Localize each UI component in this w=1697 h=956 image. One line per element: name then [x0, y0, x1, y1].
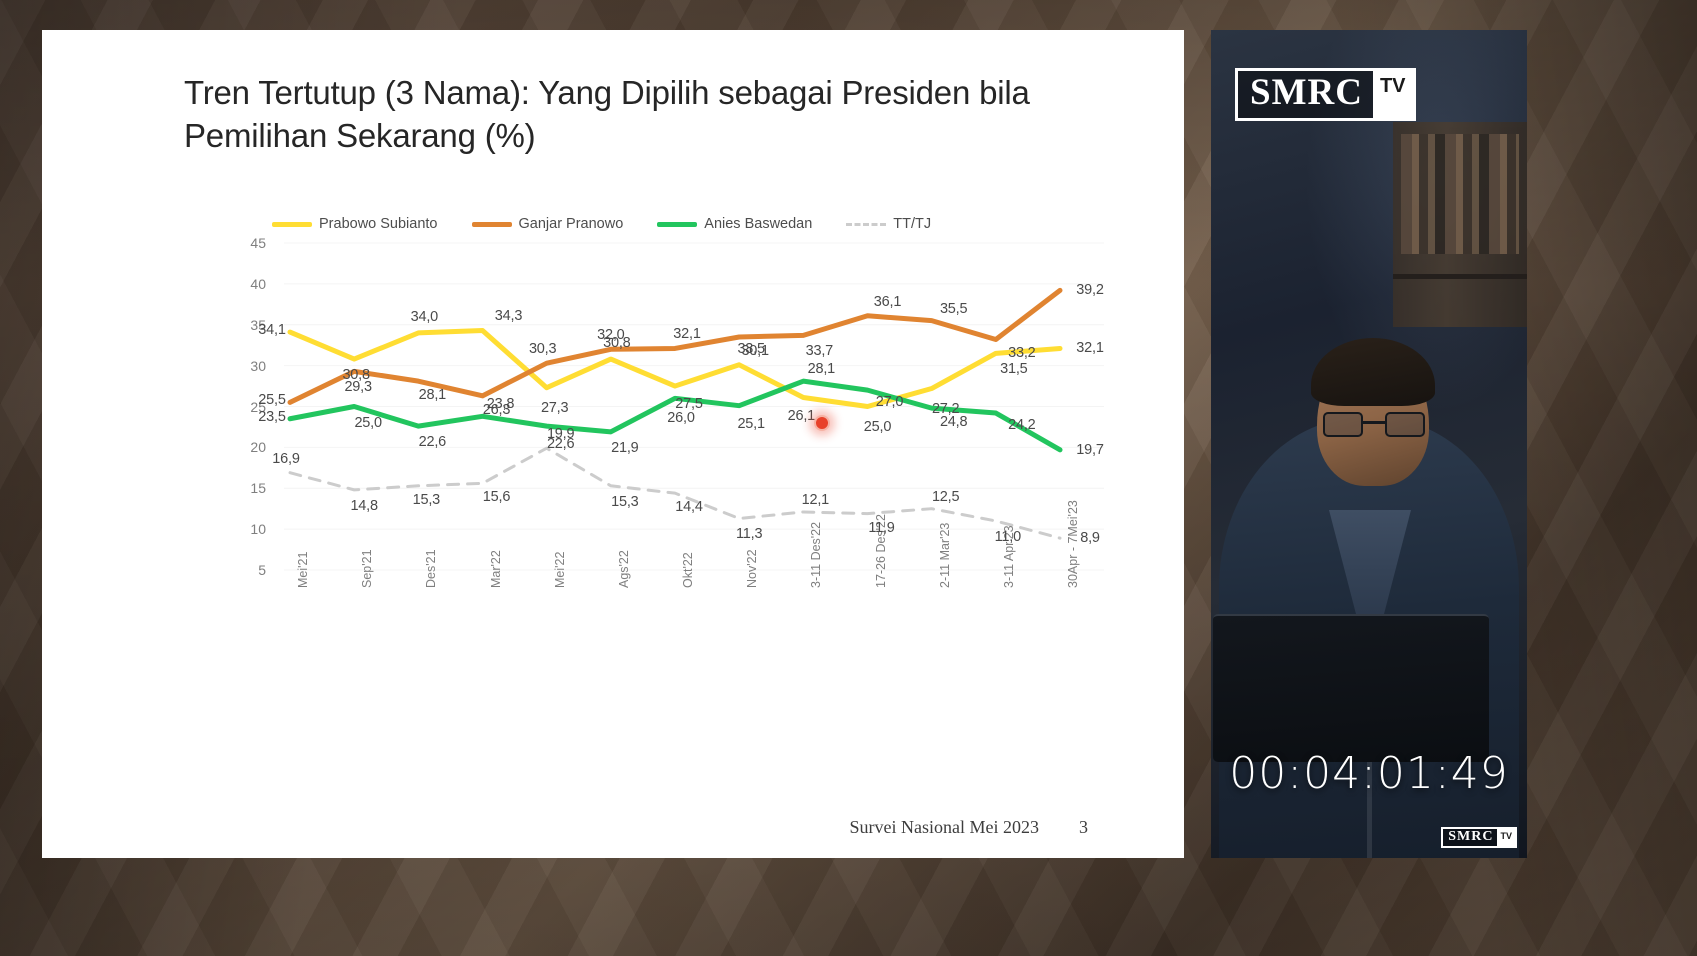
- chart-plot-area: 45403530252015105Mei'21Sep'21Des'21Mar'2…: [238, 235, 1108, 580]
- smrc-tv-logo: SMRC TV: [1235, 68, 1416, 121]
- mouse-cursor-pointer: [814, 415, 830, 431]
- data-label: 24,8: [940, 414, 967, 430]
- data-label: 33,2: [1008, 345, 1035, 361]
- data-label: 26,0: [667, 410, 694, 426]
- data-label: 19,9: [547, 426, 574, 442]
- laptop-device: [1213, 614, 1489, 762]
- legend-label: Anies Baswedan: [704, 216, 812, 232]
- x-axis-tick: Sep'21: [360, 549, 374, 588]
- presentation-slide: Tren Tertutup (3 Nama): Yang Dipilih seb…: [42, 30, 1184, 858]
- footer-source: Survei Nasional Mei 2023: [850, 817, 1039, 838]
- glasses-bridge: [1363, 421, 1385, 424]
- bookshelf-background: [1393, 122, 1527, 327]
- page-title: Tren Tertutup (3 Nama): Yang Dipilih seb…: [184, 72, 1104, 158]
- legend-swatch-icon: [272, 222, 312, 227]
- x-axis-tick: Okt'22: [681, 552, 695, 588]
- data-label: 39,2: [1076, 282, 1103, 298]
- legend-swatch-icon: [472, 222, 512, 227]
- legend-item-anies-baswedan[interactable]: Anies Baswedan: [657, 216, 812, 232]
- data-label: 34,3: [495, 308, 522, 324]
- data-label: 32,0: [597, 327, 624, 343]
- data-label: 23,8: [487, 396, 514, 412]
- data-label: 16,9: [272, 451, 299, 467]
- data-label: 36,1: [874, 294, 901, 310]
- legend-item-prabowo-subianto[interactable]: Prabowo Subianto: [272, 216, 438, 232]
- data-label: 21,9: [611, 440, 638, 456]
- y-axis-tick: 10: [232, 521, 266, 537]
- data-label: 25,0: [354, 415, 381, 431]
- data-label: 23,5: [258, 409, 285, 425]
- y-axis-tick: 15: [232, 480, 266, 496]
- page-number: 3: [1079, 817, 1088, 838]
- legend-swatch-icon: [846, 223, 886, 226]
- glasses-left-lens: [1323, 412, 1363, 437]
- legend-item-tt-tj[interactable]: TT/TJ: [846, 216, 931, 232]
- video-timecode: 00:04:01:49: [1211, 748, 1527, 799]
- data-label: 22,6: [419, 434, 446, 450]
- data-label: 15,3: [413, 492, 440, 508]
- y-axis-tick: 5: [232, 562, 266, 578]
- chart-lines: [238, 235, 1108, 580]
- x-axis-tick: 2-11 Mar'23: [938, 523, 952, 588]
- legend-item-ganjar-pranowo[interactable]: Ganjar Pranowo: [472, 216, 624, 232]
- data-label: 12,1: [802, 492, 829, 508]
- data-label: 25,5: [258, 392, 285, 408]
- x-axis-tick: Ags'22: [617, 550, 631, 588]
- data-label: 14,8: [350, 498, 377, 514]
- data-label: 24,2: [1008, 417, 1035, 433]
- data-label: 11,0: [995, 529, 1021, 545]
- smrc-watermark-tv-text: TV: [1497, 829, 1515, 846]
- x-axis-tick: Mei'21: [296, 552, 310, 588]
- smrc-logo-text: SMRC: [1238, 71, 1373, 118]
- legend-label: TT/TJ: [893, 216, 931, 232]
- data-label: 28,1: [808, 361, 835, 377]
- legend-label: Prabowo Subianto: [319, 216, 438, 232]
- y-axis-tick: 40: [232, 276, 266, 292]
- data-label: 34,0: [411, 309, 438, 325]
- slide-footer: Survei Nasional Mei 2023 3: [850, 817, 1088, 838]
- x-axis-tick: Mei'22: [553, 552, 567, 588]
- data-label: 35,5: [940, 301, 967, 317]
- data-label: 25,1: [737, 416, 764, 432]
- data-label: 15,3: [611, 494, 638, 510]
- data-label: 28,1: [419, 387, 446, 403]
- data-label: 27,0: [876, 394, 903, 410]
- data-label: 15,6: [483, 489, 510, 505]
- data-label: 14,4: [675, 499, 702, 515]
- legend-swatch-icon: [657, 222, 697, 227]
- y-axis-tick: 45: [232, 235, 266, 251]
- data-label: 19,7: [1076, 442, 1103, 458]
- video-panel[interactable]: SMRC TV 00:04:01:49 SMRC TV: [1211, 30, 1527, 858]
- eyeglasses-icon: [1323, 412, 1425, 438]
- data-label: 8,9: [1080, 530, 1100, 546]
- data-label: 33,5: [737, 341, 764, 357]
- data-label: 27,3: [541, 400, 568, 416]
- data-label: 31,5: [1000, 361, 1027, 377]
- x-axis-tick: Mar'22: [489, 550, 503, 588]
- data-label: 11,3: [736, 526, 762, 542]
- smrc-watermark-text: SMRC: [1443, 829, 1497, 846]
- data-label: 25,0: [864, 419, 891, 435]
- data-label: 33,7: [806, 343, 833, 359]
- data-label: 26,1: [788, 408, 815, 424]
- x-axis-tick: 3-11 Des'22: [809, 522, 823, 588]
- smrc-logo-tv-text: TV: [1373, 71, 1413, 118]
- data-label: 12,5: [932, 489, 959, 505]
- data-label: 34,1: [258, 322, 285, 338]
- smrc-tv-watermark: SMRC TV: [1441, 827, 1517, 848]
- y-axis-tick: 20: [232, 439, 266, 455]
- data-label: 32,1: [673, 326, 700, 342]
- x-axis-tick: Des'21: [424, 549, 438, 588]
- data-label: 30,3: [529, 341, 556, 357]
- data-label: 11,9: [868, 520, 894, 536]
- legend-label: Ganjar Pranowo: [519, 216, 624, 232]
- chart-legend: Prabowo SubiantoGanjar PranowoAnies Basw…: [272, 216, 1072, 232]
- x-axis-tick: 30Apr - 7Mei'23: [1066, 500, 1080, 588]
- data-label: 32,1: [1076, 340, 1103, 356]
- y-axis-tick: 30: [232, 358, 266, 374]
- x-axis-tick: Nov'22: [745, 549, 759, 588]
- data-label: 29,3: [344, 379, 371, 395]
- glasses-right-lens: [1385, 412, 1425, 437]
